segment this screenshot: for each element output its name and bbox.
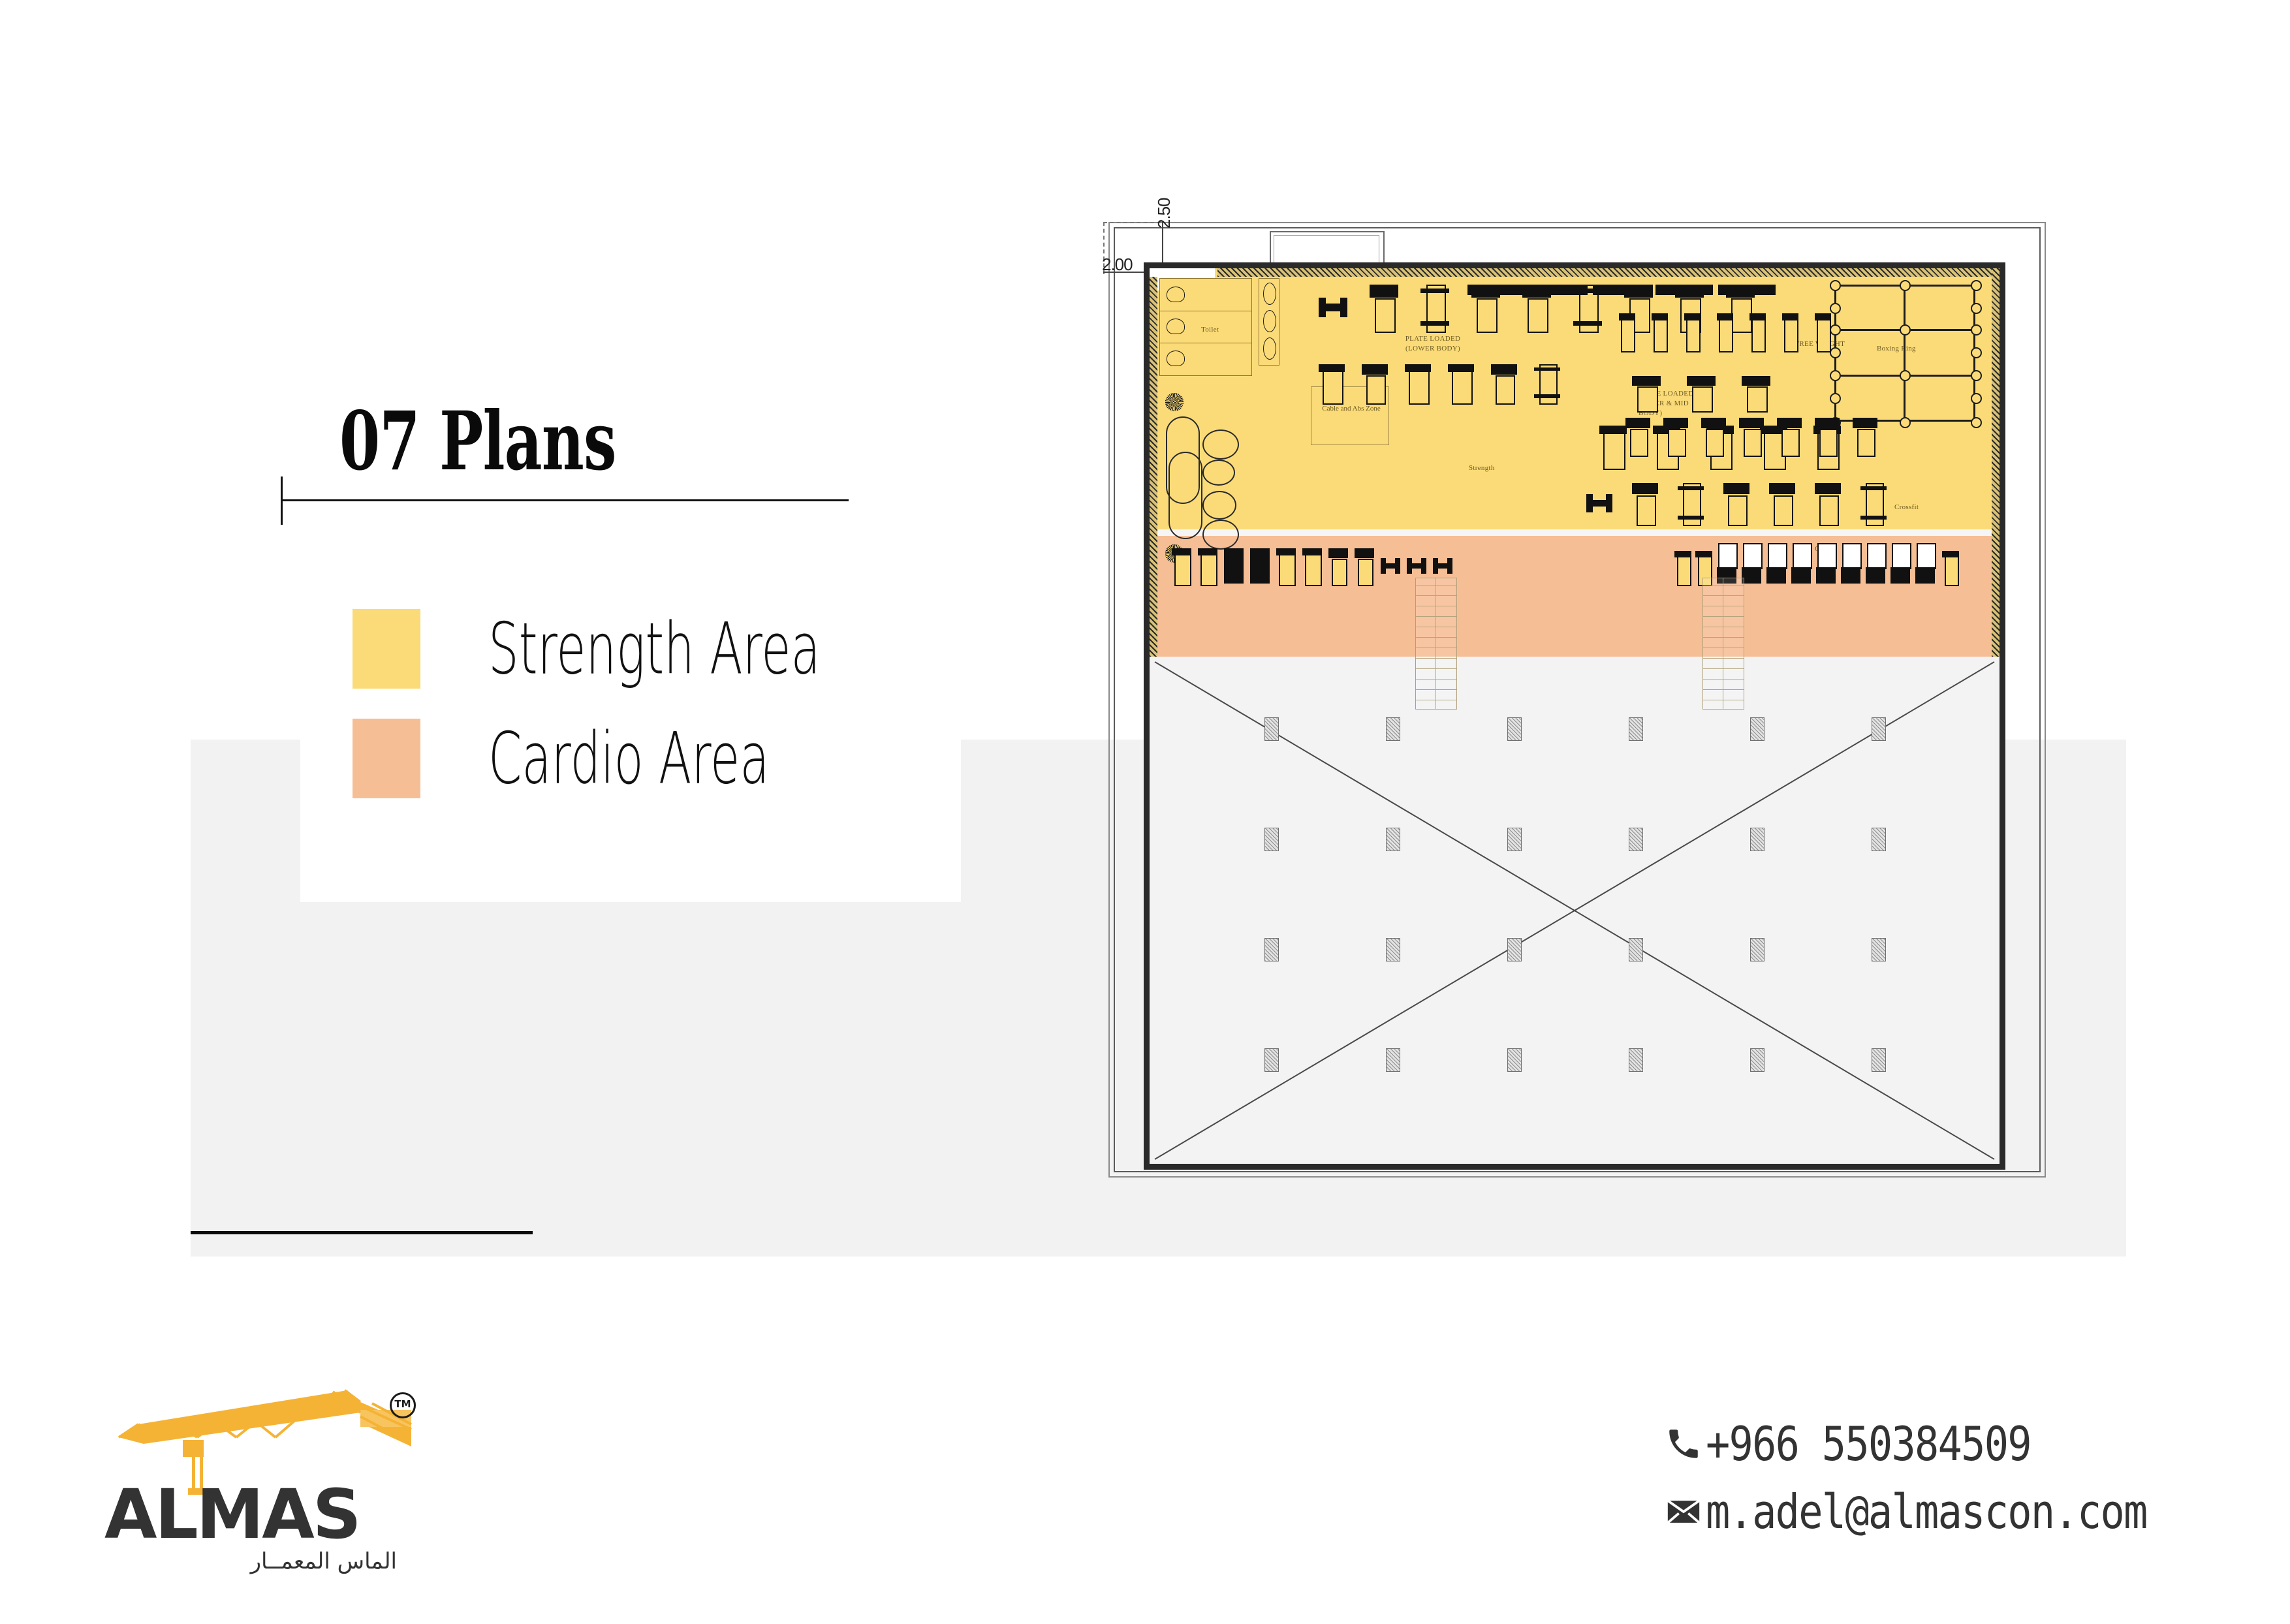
gym-equipment-glyph (1739, 418, 1764, 454)
phone-number: +966 550384509 (1706, 1416, 2031, 1471)
structural-column (1386, 828, 1400, 851)
gym-equipment-glyph (1405, 364, 1431, 402)
gym-equipment-glyph (1717, 313, 1733, 350)
gym-equipment-glyph (1370, 285, 1398, 330)
gym-equipment-glyph (1860, 483, 1887, 523)
structural-column (1629, 828, 1643, 851)
gym-equipment-glyph (1777, 418, 1802, 454)
gym-equipment-glyph (1815, 313, 1830, 350)
footer-divider-rule (191, 1231, 533, 1234)
gym-equipment-glyph (1530, 285, 1588, 295)
wall-hatch-top (1217, 268, 2000, 277)
stair-run-left (1415, 578, 1457, 710)
gym-equipment-glyph (1534, 364, 1560, 402)
gym-equipment-glyph (1632, 483, 1658, 523)
gym-equipment-glyph (1198, 548, 1217, 584)
structural-column (1750, 828, 1765, 851)
gym-equipment-glyph (1599, 426, 1627, 467)
lounge-sofa (1169, 452, 1202, 539)
legend-label-cardio: Cardio Area (488, 717, 769, 800)
structural-column (1264, 717, 1279, 741)
gym-equipment-glyph (1766, 543, 1786, 584)
gym-equipment-glyph (1749, 313, 1765, 350)
contact-email-row[interactable]: m.adel@almascon.com (1661, 1478, 2219, 1546)
gym-equipment-glyph (1448, 364, 1474, 402)
boxing-ring (1834, 285, 1975, 422)
structural-column (1629, 717, 1643, 741)
structural-column (1507, 717, 1522, 741)
structural-column (1750, 717, 1765, 741)
gym-equipment-glyph (1276, 548, 1296, 584)
title-block: 07 Plans (339, 401, 966, 482)
strength-swatch (353, 609, 420, 689)
label-cable-abs-zone: Cable and Abs Zone (1319, 403, 1384, 414)
gym-equipment-glyph (1328, 548, 1348, 584)
gym-equipment-glyph (1663, 418, 1688, 454)
ceiling-fan-icon (1165, 393, 1184, 411)
gym-equipment-glyph (1355, 548, 1374, 584)
gym-equipment-glyph (1687, 376, 1716, 410)
lounge-table (1202, 491, 1236, 520)
structural-column (1750, 1048, 1765, 1072)
gym-equipment-glyph (1853, 418, 1877, 454)
legend: Strength Area Cardio Area (353, 594, 903, 813)
gym-equipment-glyph (1674, 551, 1691, 584)
gym-equipment-glyph (1302, 548, 1322, 584)
structural-column (1872, 828, 1886, 851)
structural-column (1507, 938, 1522, 961)
dimension-label-vertical: 2.50 (1154, 198, 1174, 228)
gym-equipment-glyph (1890, 543, 1910, 584)
gym-equipment-glyph (1684, 313, 1700, 350)
contact-block: +966 550384509 m.adel@almascon.com (1661, 1410, 2219, 1546)
email-icon (1661, 1493, 1706, 1531)
company-logo: ALMAS الماس المعمــار TM (104, 1384, 444, 1580)
gym-equipment-glyph (1632, 376, 1661, 410)
gym-equipment-glyph (1381, 548, 1400, 584)
gym-equipment-glyph (1593, 285, 1650, 295)
trademark-icon: TM (390, 1392, 416, 1418)
gym-equipment-glyph (1782, 313, 1798, 350)
structural-column (1507, 828, 1522, 851)
gym-equipment-glyph (1841, 543, 1860, 584)
lounge-table (1202, 429, 1239, 460)
cardio-swatch (353, 719, 420, 798)
label-toilet: Toilet (1201, 325, 1219, 335)
structural-column (1629, 938, 1643, 961)
floor-plan: 2.00 2.50 Toilet Cable and Abs Zone PLAT… (1103, 222, 2050, 1181)
structural-column (1872, 717, 1886, 741)
structural-column (1872, 1048, 1886, 1072)
gym-equipment-glyph (1362, 364, 1388, 402)
gym-equipment-glyph (1915, 543, 1935, 584)
legend-item-cardio: Cardio Area (353, 704, 903, 813)
lounge-table (1202, 460, 1235, 486)
gym-equipment-glyph (1586, 483, 1612, 523)
title-underline-line (281, 499, 849, 501)
email-address: m.adel@almascon.com (1706, 1484, 2147, 1539)
gym-equipment-glyph (1815, 483, 1841, 523)
gym-equipment-glyph (1723, 483, 1749, 523)
stair-run-right (1702, 578, 1744, 710)
gym-equipment-glyph (1791, 543, 1811, 584)
logo-arabic-subtitle: الماس المعمــار (181, 1548, 397, 1574)
structural-column (1386, 717, 1400, 741)
gym-equipment-glyph (1420, 285, 1449, 330)
legend-item-strength: Strength Area (353, 594, 903, 704)
structural-column (1750, 938, 1765, 961)
title-underline (281, 476, 849, 525)
gym-equipment-glyph (1250, 548, 1270, 584)
legend-label-strength: Strength Area (488, 608, 821, 690)
contact-phone-row[interactable]: +966 550384509 (1661, 1410, 2219, 1478)
gym-equipment-glyph (1815, 418, 1840, 454)
gym-equipment-glyph (1319, 285, 1347, 330)
structural-column (1264, 828, 1279, 851)
gym-equipment-glyph (1769, 483, 1795, 523)
label-strength: Strength (1469, 463, 1495, 473)
gym-equipment-glyph (1491, 364, 1517, 402)
label-crossfit: Crossfit (1894, 503, 1919, 512)
wall-hatch-left (1150, 277, 1157, 657)
mirror-strip (1259, 278, 1279, 366)
gym-equipment-glyph (1718, 285, 1776, 295)
gym-equipment-glyph (1224, 548, 1244, 584)
gym-equipment-glyph (1655, 285, 1713, 295)
gym-equipment-glyph (1467, 285, 1525, 295)
gym-equipment-glyph (1816, 543, 1836, 584)
gym-equipment-glyph (1942, 551, 1959, 584)
gym-equipment-glyph (1678, 483, 1704, 523)
gym-equipment-glyph (1701, 418, 1726, 454)
unassigned-zone (1150, 657, 2000, 1164)
lounge-table (1202, 520, 1239, 550)
gym-equipment-glyph (1625, 418, 1650, 454)
gym-equipment-glyph (1619, 313, 1635, 350)
logo-wordmark: ALMAS (104, 1480, 385, 1548)
structural-column (1264, 938, 1279, 961)
phone-icon (1661, 1425, 1706, 1463)
gym-equipment-glyph (1742, 376, 1770, 410)
dimension-label-horizontal: 2.00 (1102, 255, 1133, 275)
label-plate-loaded-lower: PLATE LOADED (LOWER BODY) (1390, 334, 1475, 354)
page-title: 07 Plans (339, 401, 791, 482)
structural-column (1507, 1048, 1522, 1072)
structural-column (1386, 938, 1400, 961)
wall-hatch-right (1992, 268, 2000, 657)
structural-column (1264, 1048, 1279, 1072)
gym-equipment-glyph (1172, 548, 1191, 584)
gym-equipment-glyph (1652, 313, 1667, 350)
structural-column (1386, 1048, 1400, 1072)
structural-column (1872, 938, 1886, 961)
gym-equipment-glyph (1742, 543, 1761, 584)
gym-equipment-glyph (1319, 364, 1345, 402)
structural-column (1629, 1048, 1643, 1072)
gym-equipment-glyph (1866, 543, 1885, 584)
